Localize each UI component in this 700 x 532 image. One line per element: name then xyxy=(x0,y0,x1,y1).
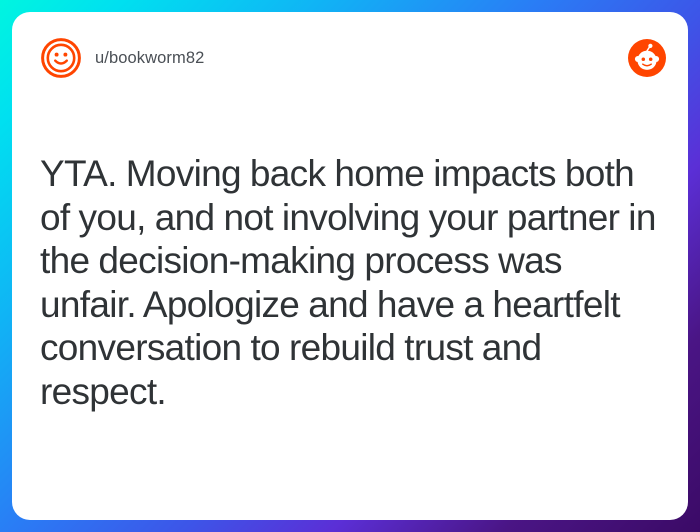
reddit-snoo-logo-icon xyxy=(628,39,666,77)
card-header: u/bookworm82 xyxy=(12,12,688,104)
username-label: u/bookworm82 xyxy=(95,49,204,68)
reddit-quote-card: u/bookworm82 YTA. Moving back home impac… xyxy=(12,12,688,520)
smiley-face-avatar-icon xyxy=(40,37,82,79)
gradient-background: u/bookworm82 YTA. Moving back home impac… xyxy=(0,0,700,532)
user-identity[interactable]: u/bookworm82 xyxy=(40,37,204,79)
post-body-text: YTA. Moving back home impacts both of yo… xyxy=(40,152,664,413)
